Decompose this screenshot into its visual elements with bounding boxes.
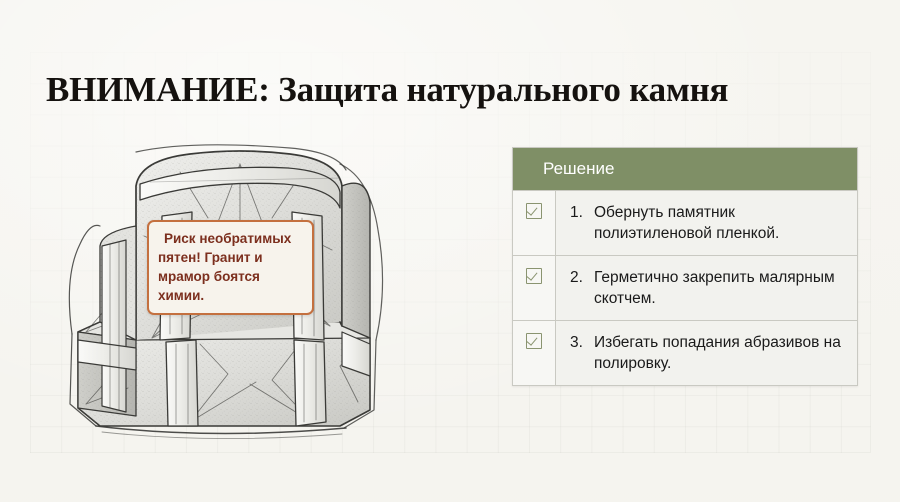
table-row[interactable]: 2. Герметично закрепить малярным скотчем… (513, 255, 857, 320)
row-text-cell: 3. Избегать попадания абразивов на полир… (556, 321, 857, 385)
page-title: ВНИМАНИЕ: Защита натурального камня (46, 69, 728, 111)
solution-table: Решение 1. Обернуть памятник полиэтилено… (512, 147, 858, 386)
callout-line-3: мрамор боятся химии. (158, 267, 303, 305)
row-text-cell: 2. Герметично закрепить малярным скотчем… (556, 256, 857, 320)
checkbox-checked-icon[interactable] (526, 333, 542, 349)
checkbox-checked-icon[interactable] (526, 268, 542, 284)
warning-callout: Риск необратимых пятен! Гранит и мрамор … (147, 220, 314, 315)
row-text: Избегать попадания абразивов на полировк… (594, 332, 847, 374)
row-text: Герметично закрепить малярным скотчем. (594, 267, 847, 309)
row-number: 1. (570, 202, 594, 244)
slide-canvas: ВНИМАНИЕ: Защита натурального камня (0, 0, 900, 502)
row-number: 2. (570, 267, 594, 309)
table-header-solution: Решение (513, 148, 857, 190)
table-row[interactable]: 3. Избегать попадания абразивов на полир… (513, 320, 857, 385)
row-checkbox-cell[interactable] (513, 321, 556, 385)
callout-line-2: пятен! Гранит и (158, 248, 303, 267)
row-text: Обернуть памятник полиэтиленовой пленкой… (594, 202, 847, 244)
row-text-cell: 1. Обернуть памятник полиэтиленовой плен… (556, 191, 857, 255)
row-checkbox-cell[interactable] (513, 191, 556, 255)
callout-line-1: Риск необратимых (158, 229, 303, 248)
row-number: 3. (570, 332, 594, 374)
row-checkbox-cell[interactable] (513, 256, 556, 320)
table-row[interactable]: 1. Обернуть памятник полиэтиленовой плен… (513, 190, 857, 255)
checkbox-checked-icon[interactable] (526, 203, 542, 219)
